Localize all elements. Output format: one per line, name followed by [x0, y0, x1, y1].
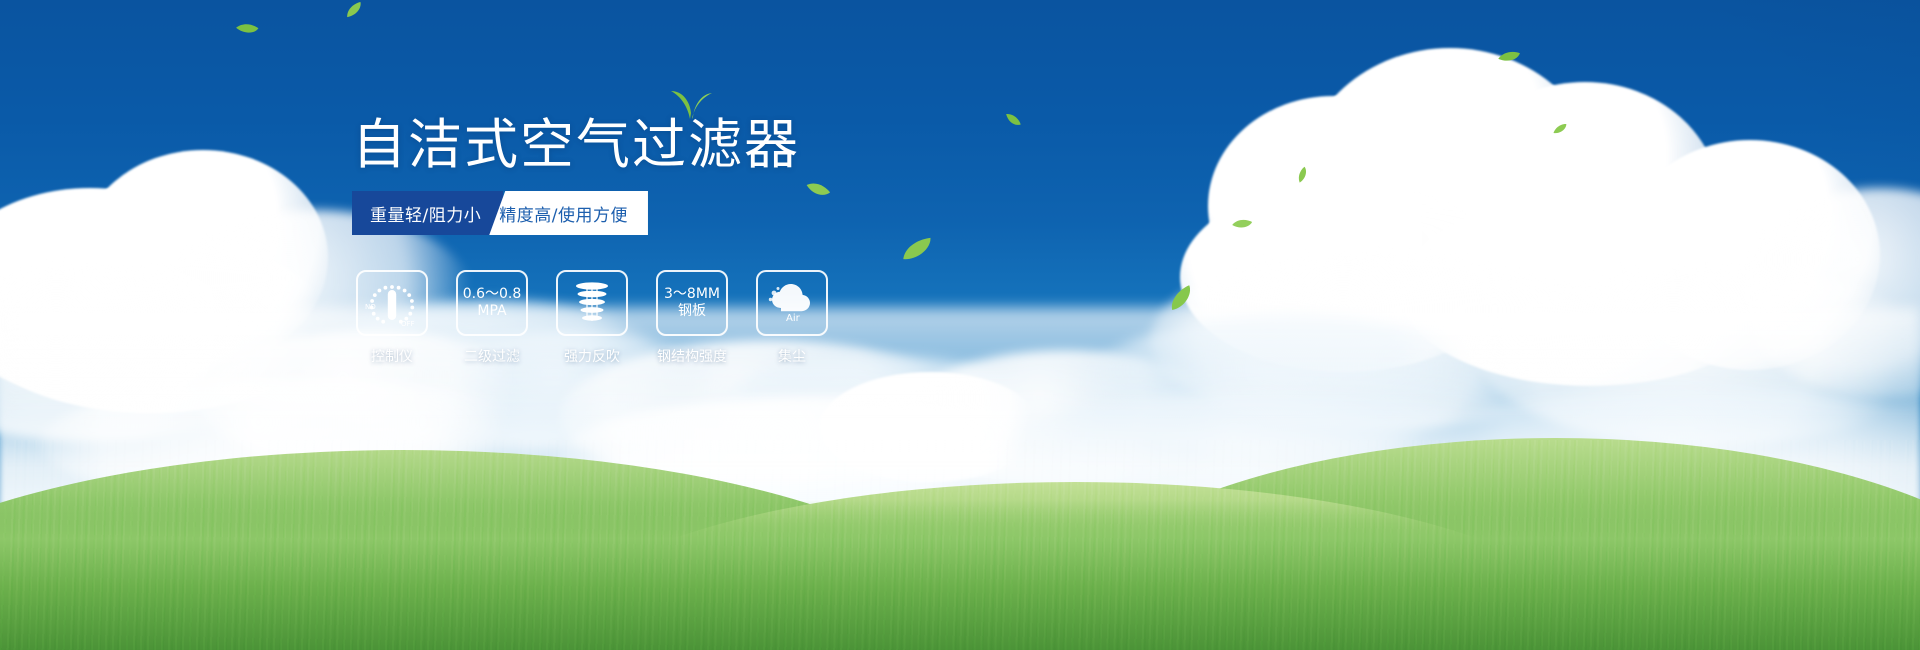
feature-caption: 二级过滤	[464, 346, 520, 366]
banner-content: 自洁式空气过滤器 重量轻/阻力小 精度高/使用方便	[0, 0, 1920, 650]
feature-icon-box: 3～8MM 钢板	[656, 270, 728, 336]
feature-caption: 集尘	[778, 346, 806, 366]
feature-icon-row: NO OFF 控制仪 0.6～0.8 MPA 二级过滤	[356, 270, 828, 366]
page-title: 自洁式空气过滤器	[352, 118, 800, 172]
pressure-text-icon: 0.6～0.8 MPA	[463, 286, 522, 320]
feature-item-dust[interactable]: Air 集尘	[756, 270, 828, 366]
feature-item-backblow[interactable]: 强力反吹	[556, 270, 628, 366]
feature-icon-box: 0.6～0.8 MPA	[456, 270, 528, 336]
feature-item-pressure[interactable]: 0.6～0.8 MPA 二级过滤	[456, 270, 528, 366]
feature-caption: 钢结构强度	[657, 346, 727, 366]
feature-icon-box: Air	[756, 270, 828, 336]
tagline-pill-primary[interactable]: 重量轻/阻力小	[352, 191, 503, 235]
air-badge-label: Air	[786, 313, 801, 324]
control-dial-icon: NO OFF	[362, 276, 422, 330]
filter-cartridge-icon	[567, 278, 617, 328]
tagline-pill-secondary[interactable]: 精度高/使用方便	[489, 191, 648, 235]
tagline-pills: 重量轻/阻力小 精度高/使用方便	[352, 191, 648, 235]
feature-icon-box: NO OFF	[356, 270, 428, 336]
title-block: 自洁式空气过滤器	[352, 118, 800, 172]
feature-item-steel[interactable]: 3～8MM 钢板 钢结构强度	[656, 270, 728, 366]
steel-plate-text-icon: 3～8MM 钢板	[664, 286, 720, 320]
feature-item-controller[interactable]: NO OFF 控制仪	[356, 270, 428, 366]
air-cloud-icon: Air	[764, 280, 820, 326]
feature-caption: 控制仪	[371, 346, 413, 366]
product-hero-banner: 自洁式空气过滤器 重量轻/阻力小 精度高/使用方便	[0, 0, 1920, 650]
dial-on-label: NO	[365, 303, 376, 311]
dial-off-label: OFF	[401, 320, 415, 328]
feature-icon-box	[556, 270, 628, 336]
feature-caption: 强力反吹	[564, 346, 620, 366]
title-leaf-icon	[669, 90, 713, 124]
